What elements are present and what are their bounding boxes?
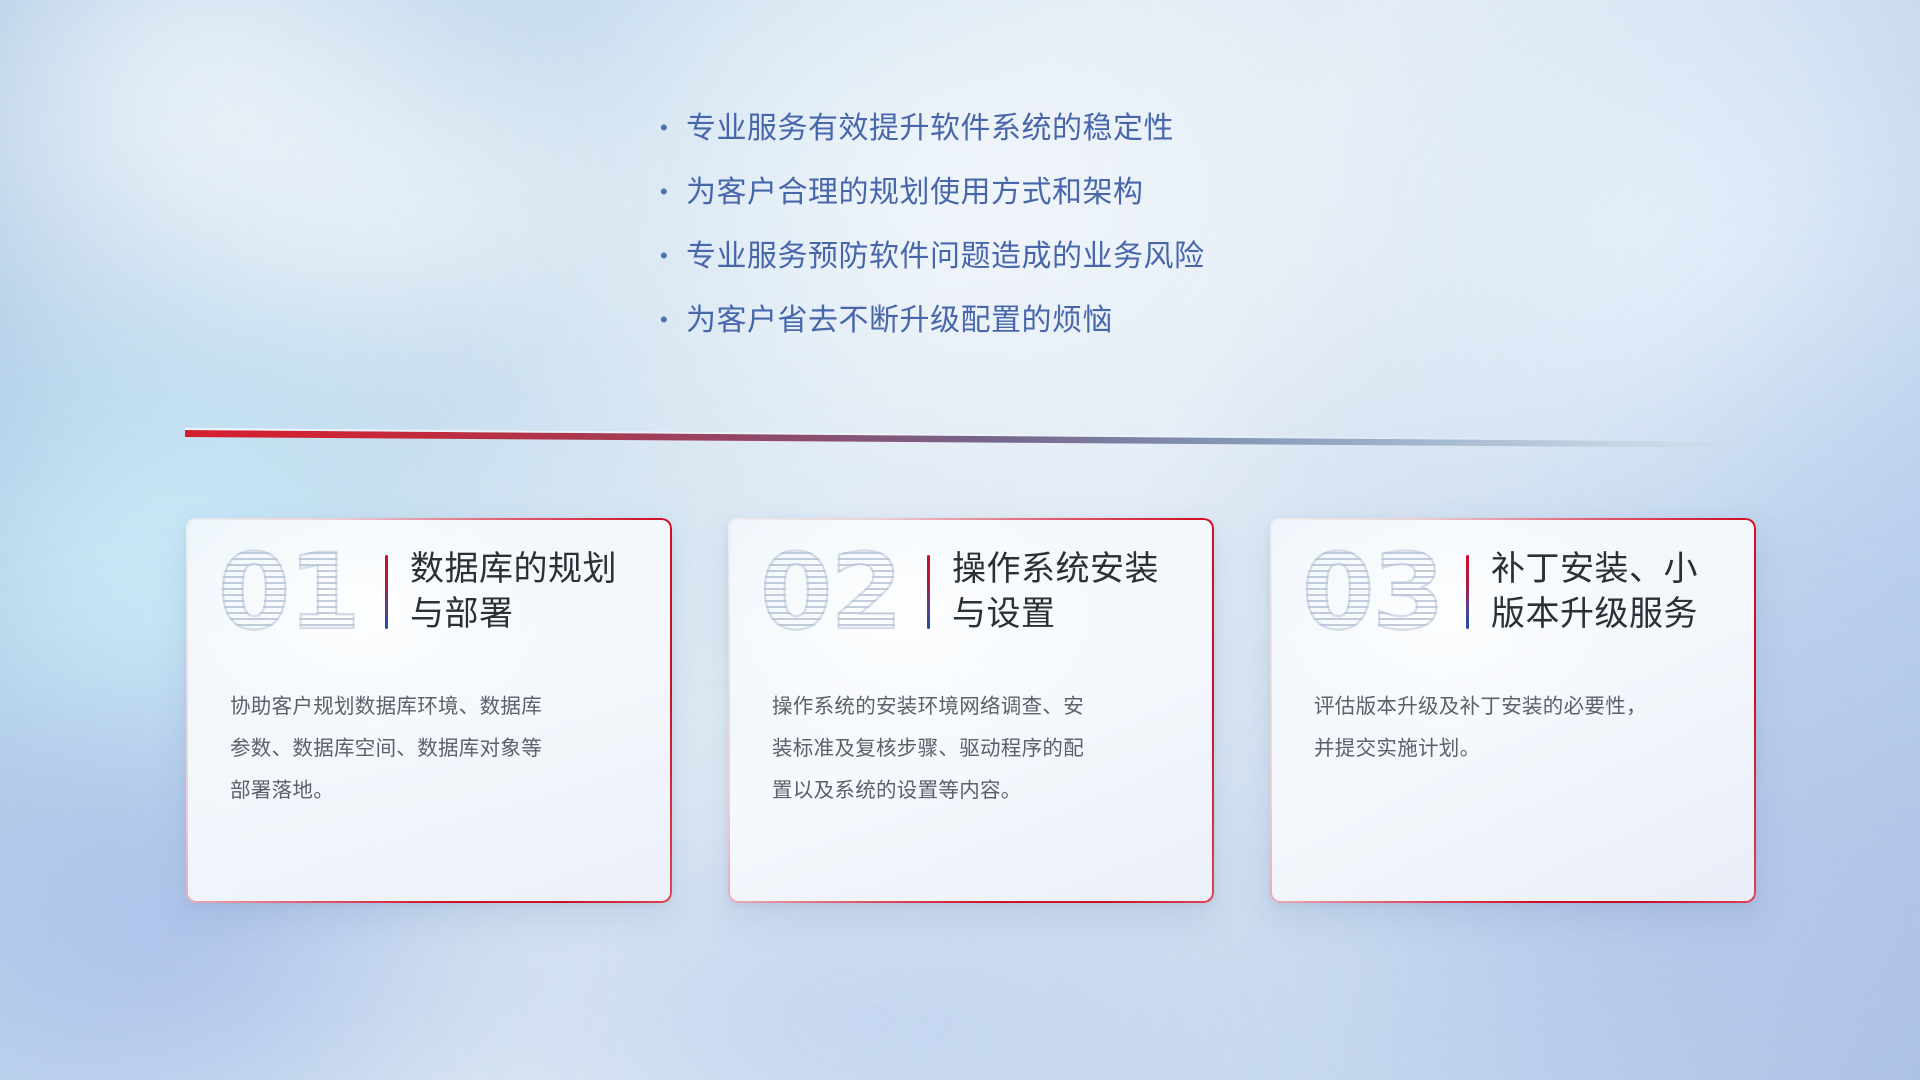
bullet-dot-icon: • [660, 117, 686, 139]
card-description: 评估版本升级及补丁安装的必要性， 并提交实施计划。 [1314, 686, 1712, 770]
card-divider-bar [385, 555, 388, 629]
service-card[interactable]: 03 补丁安装、小 版本升级服务 评估版本升级及补丁安装的必要性， 并提交实施计… [1270, 518, 1756, 903]
card-description: 协助客户规划数据库环境、数据库 参数、数据库空间、数据库对象等 部署落地。 [230, 686, 628, 812]
card-title: 操作系统安装 与设置 [952, 547, 1190, 637]
bullet-dot-icon: • [660, 181, 686, 203]
bullet-text: 为客户省去不断升级配置的烦恼 [686, 306, 1113, 336]
card-number: 03 [1294, 540, 1466, 644]
card-divider-bar [927, 555, 930, 629]
card-header: 01 数据库的规划 与部署 [186, 518, 672, 666]
card-header: 03 补丁安装、小 版本升级服务 [1270, 518, 1756, 666]
card-title: 数据库的规划 与部署 [410, 547, 648, 637]
bullet-text: 为客户合理的规划使用方式和架构 [686, 178, 1144, 208]
card-divider-bar [1466, 555, 1469, 629]
card-description: 操作系统的安装环境网络调查、安 装标准及复核步骤、驱动程序的配 置以及系统的设置… [772, 686, 1170, 812]
list-item: • 专业服务预防软件问题造成的业务风险 [660, 242, 1420, 306]
list-item: • 为客户合理的规划使用方式和架构 [660, 178, 1420, 242]
list-item: • 专业服务有效提升软件系统的稳定性 [660, 114, 1420, 178]
bullet-text: 专业服务有效提升软件系统的稳定性 [686, 114, 1174, 144]
bullet-text: 专业服务预防软件问题造成的业务风险 [686, 242, 1205, 272]
bullet-dot-icon: • [660, 309, 686, 331]
card-number: 01 [210, 540, 385, 644]
list-item: • 为客户省去不断升级配置的烦恼 [660, 306, 1420, 370]
card-header: 02 操作系统安装 与设置 [728, 518, 1214, 666]
benefits-bullet-list: • 专业服务有效提升软件系统的稳定性 • 为客户合理的规划使用方式和架构 • 专… [660, 114, 1420, 370]
card-number: 02 [752, 540, 927, 644]
card-title: 补丁安装、小 版本升级服务 [1491, 547, 1732, 637]
bullet-dot-icon: • [660, 245, 686, 267]
service-card[interactable]: 01 数据库的规划 与部署 协助客户规划数据库环境、数据库 参数、数据库空间、数… [186, 518, 672, 903]
section-divider [185, 428, 1770, 450]
service-cards: 01 数据库的规划 与部署 协助客户规划数据库环境、数据库 参数、数据库空间、数… [186, 518, 1756, 903]
service-card[interactable]: 02 操作系统安装 与设置 操作系统的安装环境网络调查、安 装标准及复核步骤、驱… [728, 518, 1214, 903]
